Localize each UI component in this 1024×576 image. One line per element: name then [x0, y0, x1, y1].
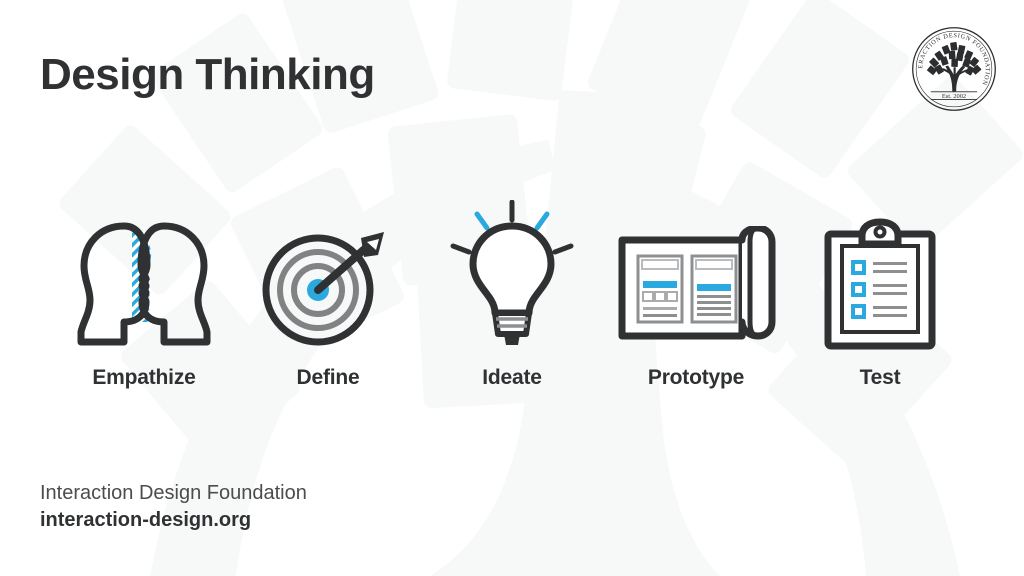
clipboard-checklist-icon — [820, 218, 940, 350]
stage-test[interactable]: Test — [792, 200, 968, 390]
stage-define[interactable]: Define — [240, 200, 416, 390]
idf-logo-seal[interactable]: INTERACTION DESIGN FOUNDATION — [911, 26, 997, 112]
stage-icon-wrapper — [447, 200, 577, 350]
stage-label-prototype: Prototype — [648, 366, 744, 390]
target-arrow-icon — [260, 224, 396, 350]
stage-icon-wrapper — [260, 200, 396, 350]
stage-icon-wrapper — [616, 200, 776, 350]
two-heads-icon — [68, 218, 220, 350]
blueprint-scroll-icon — [616, 226, 776, 350]
stage-label-ideate: Ideate — [482, 366, 542, 390]
page-title: Design Thinking — [40, 52, 375, 98]
footer-organization: Interaction Design Foundation — [40, 480, 307, 507]
stage-label-empathize: Empathize — [92, 366, 195, 390]
footer: Interaction Design Foundation interactio… — [40, 480, 307, 534]
slide-canvas: Design Thinking INTERACTION DESIGN FOUND… — [0, 0, 1024, 576]
design-thinking-stages: Empathize Defi — [56, 180, 968, 390]
stage-icon-wrapper — [68, 200, 220, 350]
footer-url[interactable]: interaction-design.org — [40, 507, 307, 534]
stage-label-define: Define — [297, 366, 360, 390]
stage-prototype[interactable]: Prototype — [608, 200, 784, 390]
stage-label-test: Test — [860, 366, 901, 390]
stage-icon-wrapper — [820, 200, 940, 350]
lightbulb-icon — [447, 200, 577, 350]
stage-empathize[interactable]: Empathize — [56, 200, 232, 390]
logo-established-text: Est. 2002 — [942, 93, 966, 100]
stage-ideate[interactable]: Ideate — [424, 200, 600, 390]
